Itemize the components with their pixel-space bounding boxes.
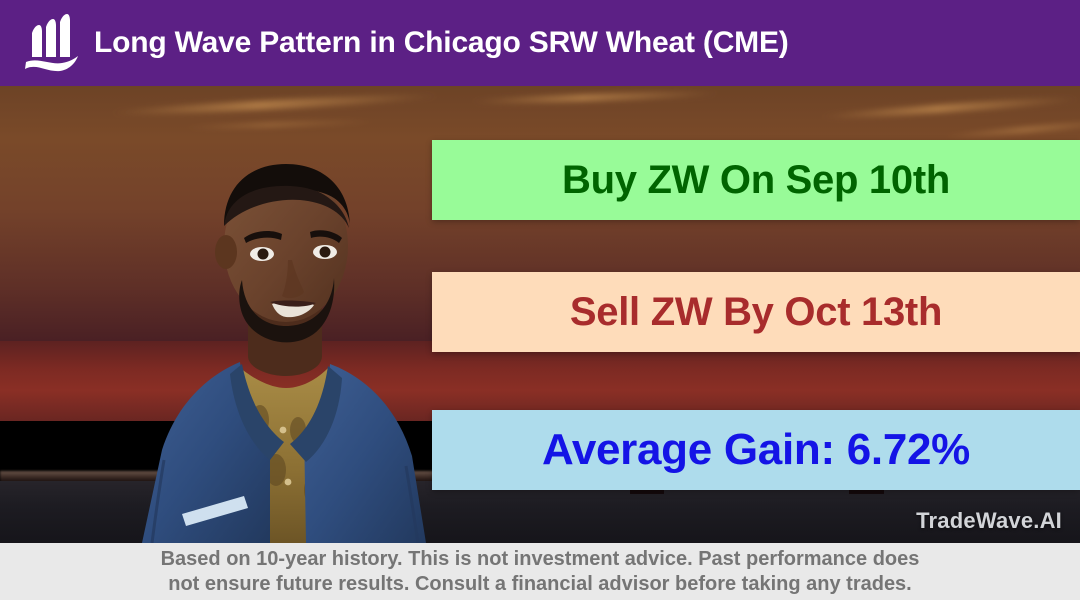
sell-signal-banner[interactable]: Sell ZW By Oct 13th bbox=[432, 272, 1080, 352]
sell-signal-text: Sell ZW By Oct 13th bbox=[570, 292, 942, 332]
average-gain-banner[interactable]: Average Gain: 6.72% bbox=[432, 410, 1080, 490]
tradewave-logo-icon bbox=[22, 13, 80, 73]
poster-root: Long Wave Pattern in Chicago SRW Wheat (… bbox=[0, 0, 1080, 600]
buy-signal-text: Buy ZW On Sep 10th bbox=[562, 160, 950, 200]
buy-signal-banner[interactable]: Buy ZW On Sep 10th bbox=[432, 140, 1080, 220]
brand-watermark: TradeWave.AI bbox=[916, 508, 1062, 534]
presenter-photo bbox=[120, 130, 450, 543]
page-title: Long Wave Pattern in Chicago SRW Wheat (… bbox=[94, 28, 789, 58]
header-bar: Long Wave Pattern in Chicago SRW Wheat (… bbox=[0, 0, 1080, 86]
disclaimer-line-2: not ensure future results. Consult a fin… bbox=[168, 572, 912, 597]
disclaimer-footer: Based on 10-year history. This is not in… bbox=[0, 543, 1080, 600]
average-gain-text: Average Gain: 6.72% bbox=[542, 428, 970, 472]
disclaimer-line-1: Based on 10-year history. This is not in… bbox=[161, 547, 920, 572]
